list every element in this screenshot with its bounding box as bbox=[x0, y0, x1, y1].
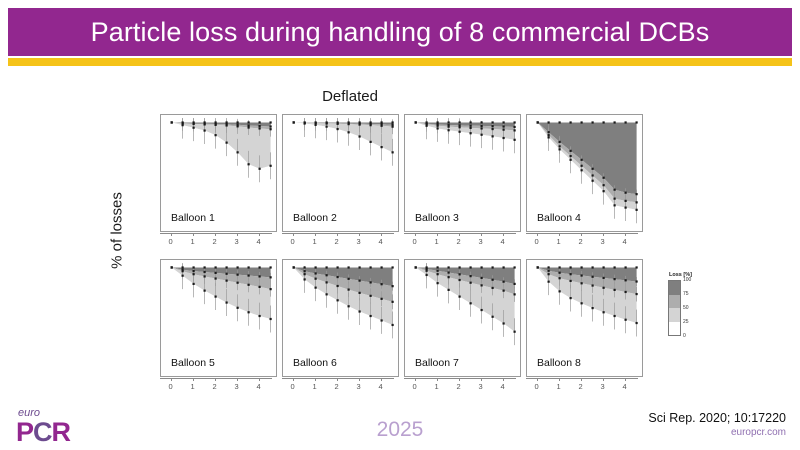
x-tick-mark bbox=[603, 233, 604, 236]
y-tick-mark bbox=[160, 212, 161, 213]
x-axis: 01234 bbox=[160, 378, 277, 394]
x-tick-mark bbox=[237, 378, 238, 381]
website-url: europcr.com bbox=[648, 426, 786, 440]
x-tick-label: 4 bbox=[623, 237, 627, 246]
x-tick-mark bbox=[581, 233, 582, 236]
x-tick-mark bbox=[359, 233, 360, 236]
x-tick-mark bbox=[237, 233, 238, 236]
slide-header-bar: Particle loss during handling of 8 comme… bbox=[8, 8, 792, 56]
y-tick-mark bbox=[160, 297, 161, 298]
y-tick-mark bbox=[160, 267, 161, 268]
x-tick-label: 4 bbox=[623, 382, 627, 391]
x-tick-mark bbox=[215, 378, 216, 381]
legend-swatch bbox=[669, 295, 680, 309]
x-tick-mark bbox=[625, 378, 626, 381]
x-tick-label: 0 bbox=[535, 382, 539, 391]
x-tick-mark bbox=[459, 233, 460, 236]
y-tick-mark bbox=[160, 122, 161, 123]
x-tick-label: 1 bbox=[557, 237, 561, 246]
x-tick-label: 1 bbox=[191, 237, 195, 246]
x-tick-mark bbox=[337, 378, 338, 381]
x-axis-row-top: 01234012340123401234 bbox=[160, 233, 648, 249]
citation-text: Sci Rep. 2020; 10:17220 bbox=[648, 411, 786, 426]
chart-panel: Balloon 6 bbox=[282, 259, 399, 377]
x-tick-label: 4 bbox=[501, 237, 505, 246]
y-axis: 100806040 bbox=[160, 115, 161, 232]
x-tick-label: 1 bbox=[557, 382, 561, 391]
x-tick-label: 0 bbox=[169, 237, 173, 246]
x-tick-mark bbox=[437, 233, 438, 236]
x-tick-label: 2 bbox=[579, 382, 583, 391]
x-tick-mark bbox=[603, 378, 604, 381]
x-tick-label: 2 bbox=[457, 382, 461, 391]
x-tick-label: 0 bbox=[291, 382, 295, 391]
chart-panel: Balloon 7 bbox=[404, 259, 521, 377]
legend-title: Loss [%] bbox=[669, 272, 728, 278]
chart-panel: Balloon 5 bbox=[160, 259, 277, 377]
x-tick-mark bbox=[359, 378, 360, 381]
slide-title: Particle loss during handling of 8 comme… bbox=[91, 17, 710, 48]
chart-panel: Balloon 1100806040 bbox=[160, 114, 277, 232]
x-axis: 01234 bbox=[404, 233, 521, 249]
panel-row-bottom: Balloon 5Balloon 6Balloon 7Balloon 8 bbox=[160, 259, 648, 377]
x-tick-mark bbox=[503, 233, 504, 236]
x-tick-label: 2 bbox=[457, 237, 461, 246]
y-axis-label: % of losses bbox=[109, 161, 126, 301]
panel-label: Balloon 8 bbox=[537, 357, 581, 369]
legend-tick-label: 75 bbox=[683, 291, 689, 297]
y-axis bbox=[160, 260, 161, 377]
legend-swatch bbox=[669, 281, 680, 295]
x-tick-mark bbox=[193, 233, 194, 236]
legend-tick-label: 0 bbox=[683, 333, 686, 339]
x-tick-label: 0 bbox=[535, 237, 539, 246]
x-tick-label: 1 bbox=[191, 382, 195, 391]
chart-panel: Balloon 3 bbox=[404, 114, 521, 232]
x-axis-row-bottom: 01234012340123401234 bbox=[160, 378, 648, 394]
x-tick-mark bbox=[381, 233, 382, 236]
x-tick-label: 2 bbox=[579, 237, 583, 246]
x-tick-mark bbox=[503, 378, 504, 381]
legend-swatch bbox=[669, 308, 680, 322]
x-tick-label: 4 bbox=[379, 382, 383, 391]
x-tick-label: 1 bbox=[435, 382, 439, 391]
x-tick-mark bbox=[293, 233, 294, 236]
legend: Loss [%] 1007550250 bbox=[668, 272, 728, 336]
y-tick-mark bbox=[160, 152, 161, 153]
x-tick-label: 3 bbox=[235, 237, 239, 246]
x-tick-mark bbox=[315, 233, 316, 236]
panel-label: Balloon 4 bbox=[537, 212, 581, 224]
x-tick-label: 1 bbox=[313, 382, 317, 391]
x-tick-label: 1 bbox=[435, 237, 439, 246]
x-tick-label: 2 bbox=[213, 382, 217, 391]
x-axis: 01234 bbox=[526, 378, 643, 394]
x-tick-label: 4 bbox=[501, 382, 505, 391]
header-accent-bar bbox=[8, 58, 792, 66]
x-tick-label: 3 bbox=[357, 237, 361, 246]
x-tick-mark bbox=[537, 378, 538, 381]
panel-label: Balloon 2 bbox=[293, 212, 337, 224]
figure-container: Deflated % of losses Balloon 1100806040B… bbox=[0, 72, 800, 412]
x-tick-mark bbox=[415, 233, 416, 236]
x-tick-label: 3 bbox=[479, 382, 483, 391]
x-axis: 01234 bbox=[404, 378, 521, 394]
x-tick-mark bbox=[171, 233, 172, 236]
x-tick-mark bbox=[293, 378, 294, 381]
chart-panel: Balloon 2 bbox=[282, 114, 399, 232]
panel-grid: Balloon 1100806040Balloon 2Balloon 3Ball… bbox=[160, 114, 648, 394]
figure-title: Deflated bbox=[0, 88, 700, 105]
x-tick-mark bbox=[259, 378, 260, 381]
x-tick-label: 4 bbox=[257, 382, 261, 391]
x-tick-label: 2 bbox=[335, 237, 339, 246]
panel-label: Balloon 3 bbox=[415, 212, 459, 224]
x-axis-line bbox=[526, 378, 638, 379]
legend-tick-label: 25 bbox=[683, 319, 689, 325]
x-tick-mark bbox=[559, 233, 560, 236]
x-axis-line bbox=[160, 233, 272, 234]
x-axis-line bbox=[282, 378, 394, 379]
x-axis-line bbox=[404, 233, 516, 234]
x-axis: 01234 bbox=[160, 233, 277, 249]
panel-label: Balloon 5 bbox=[171, 357, 215, 369]
x-tick-label: 3 bbox=[479, 237, 483, 246]
x-tick-label: 3 bbox=[357, 382, 361, 391]
x-tick-mark bbox=[537, 233, 538, 236]
x-axis: 01234 bbox=[282, 233, 399, 249]
y-tick-mark bbox=[160, 357, 161, 358]
x-tick-label: 0 bbox=[169, 382, 173, 391]
y-tick-mark bbox=[160, 327, 161, 328]
legend-color-bar bbox=[668, 280, 681, 336]
x-tick-label: 0 bbox=[413, 237, 417, 246]
x-tick-mark bbox=[381, 378, 382, 381]
x-tick-label: 1 bbox=[313, 237, 317, 246]
x-tick-label: 2 bbox=[213, 237, 217, 246]
x-axis-line bbox=[404, 378, 516, 379]
x-tick-mark bbox=[337, 233, 338, 236]
x-tick-label: 3 bbox=[235, 382, 239, 391]
x-tick-mark bbox=[315, 378, 316, 381]
x-tick-mark bbox=[481, 378, 482, 381]
y-tick-mark bbox=[160, 182, 161, 183]
x-tick-mark bbox=[481, 233, 482, 236]
x-axis-line bbox=[160, 378, 272, 379]
legend-tick-label: 50 bbox=[683, 305, 689, 311]
x-tick-label: 3 bbox=[601, 382, 605, 391]
legend-tick-labels: 1007550250 bbox=[683, 280, 711, 336]
panel-label: Balloon 6 bbox=[293, 357, 337, 369]
chart-panel: Balloon 8 bbox=[526, 259, 643, 377]
x-axis: 01234 bbox=[282, 378, 399, 394]
x-tick-mark bbox=[215, 233, 216, 236]
x-tick-mark bbox=[437, 378, 438, 381]
panel-label: Balloon 7 bbox=[415, 357, 459, 369]
x-tick-mark bbox=[625, 233, 626, 236]
x-tick-label: 3 bbox=[601, 237, 605, 246]
x-tick-label: 0 bbox=[413, 382, 417, 391]
panel-label: Balloon 1 bbox=[171, 212, 215, 224]
chart-panel: Balloon 4 bbox=[526, 114, 643, 232]
legend-tick-label: 100 bbox=[683, 277, 691, 283]
x-tick-mark bbox=[259, 233, 260, 236]
x-tick-label: 2 bbox=[335, 382, 339, 391]
panel-row-top: Balloon 1100806040Balloon 2Balloon 3Ball… bbox=[160, 114, 648, 232]
x-tick-mark bbox=[459, 378, 460, 381]
x-tick-mark bbox=[581, 378, 582, 381]
x-axis-line bbox=[282, 233, 394, 234]
x-tick-label: 0 bbox=[291, 237, 295, 246]
footer-reference: Sci Rep. 2020; 10:17220 europcr.com bbox=[648, 411, 786, 440]
x-tick-mark bbox=[559, 378, 560, 381]
x-axis: 01234 bbox=[526, 233, 643, 249]
x-tick-mark bbox=[171, 378, 172, 381]
x-axis-line bbox=[526, 233, 638, 234]
x-tick-mark bbox=[415, 378, 416, 381]
x-tick-mark bbox=[193, 378, 194, 381]
x-tick-label: 4 bbox=[379, 237, 383, 246]
legend-swatch bbox=[669, 322, 680, 336]
x-tick-label: 4 bbox=[257, 237, 261, 246]
